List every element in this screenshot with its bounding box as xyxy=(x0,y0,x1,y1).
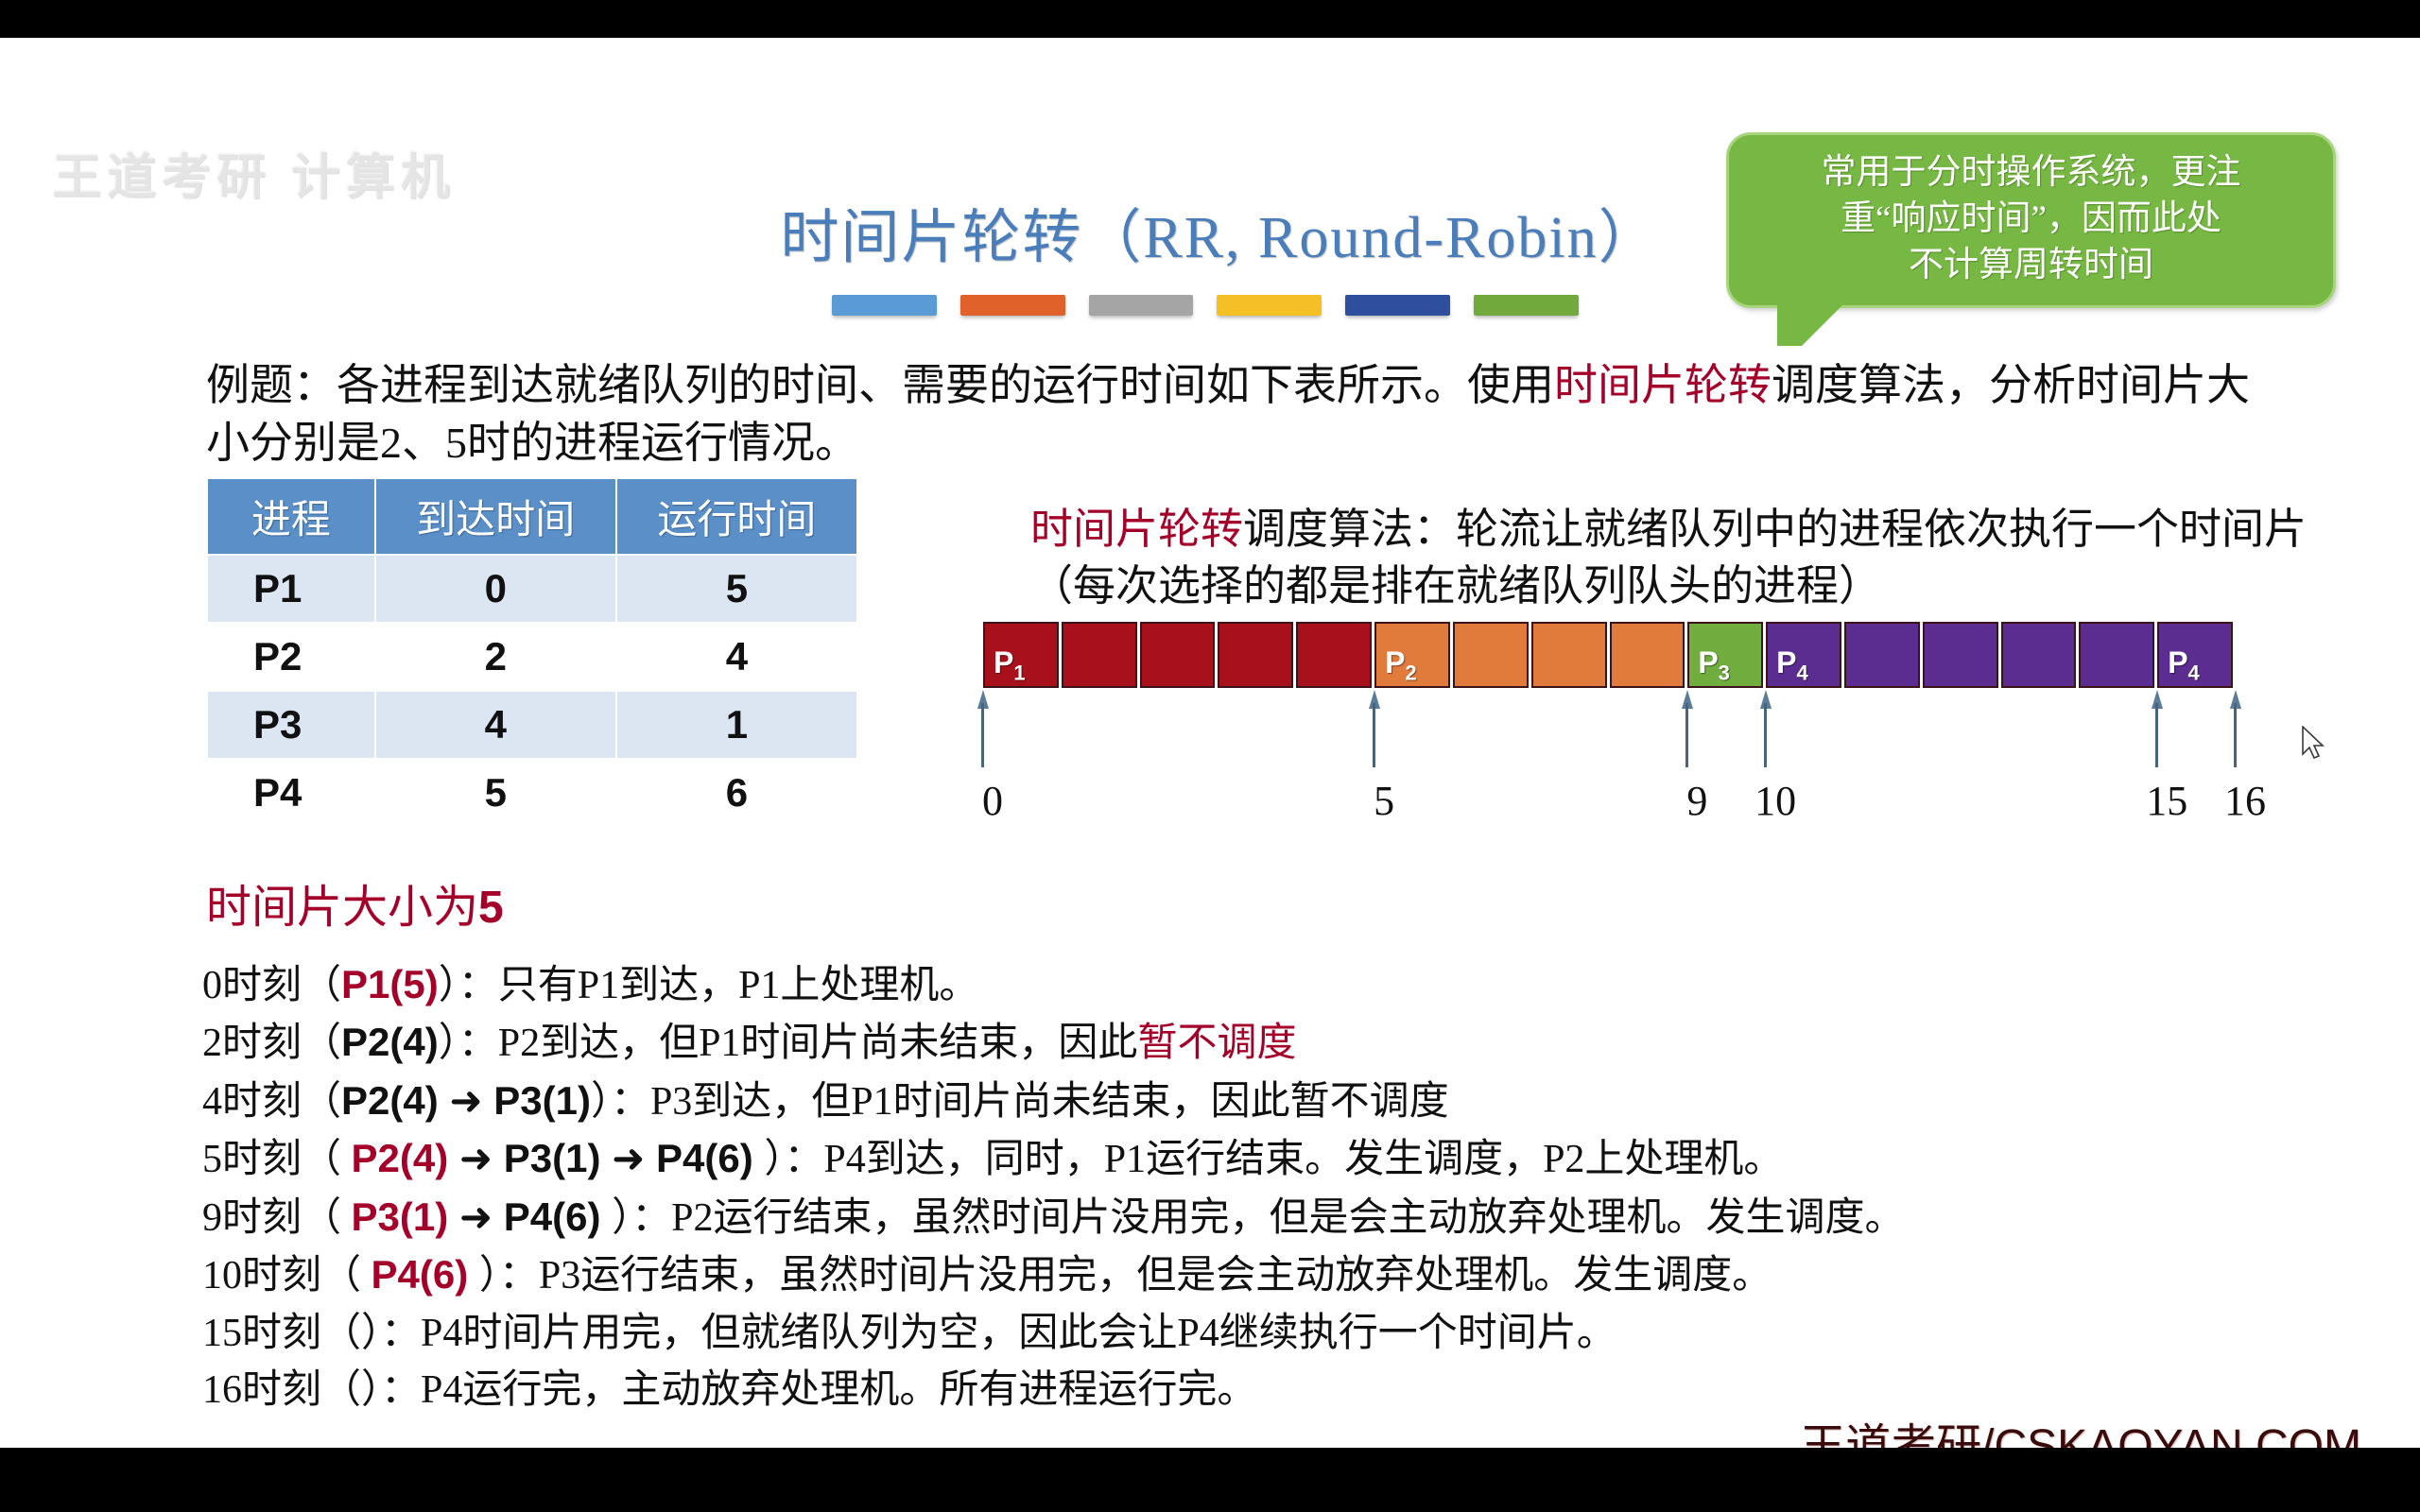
table-header-row: 进程 到达时间 运行时间 xyxy=(207,478,857,555)
step-queue: P2(4) xyxy=(341,1020,439,1064)
gantt-cell-p1-2 xyxy=(1140,622,1216,688)
step-time: 10时刻（ xyxy=(202,1254,372,1297)
table-cell: P3 xyxy=(207,691,375,759)
quantum-label: 时间片大小为 xyxy=(206,883,478,933)
problem-statement: 例题：各进程到达就绪队列的时间、需要的运行时间如下表所示。使用时间片轮转调度算法… xyxy=(206,357,2267,472)
step-queue: P1(5) xyxy=(341,962,439,1006)
page-title: 时间片轮转（RR, Round-Robin） xyxy=(718,189,1720,274)
table-header-cell: 运行时间 xyxy=(616,478,857,555)
step-line-3: 4时刻（P2(4) ➜ P3(1)）：P3到达，但P1时间片尚未结束，因此暂不调… xyxy=(202,1073,2339,1130)
table-header-cell: 进程 xyxy=(207,478,375,555)
gantt-cell-label: P1 xyxy=(985,647,1026,686)
table-cell: 5 xyxy=(375,759,616,827)
step-queue-rest: ➜ P4(6) xyxy=(448,1194,612,1239)
gantt-cell-p1-3 xyxy=(1218,622,1293,688)
table-cell: P1 xyxy=(207,555,375,623)
gantt-cell-p4-10: P4 xyxy=(1766,622,1841,688)
footer-brand: 王道考研/CSKAOYAN.COM xyxy=(1800,1408,2361,1448)
step-queue: P4(6) xyxy=(372,1252,469,1297)
step-text: ）：只有P1到达，P1上处理机。 xyxy=(439,964,979,1007)
step-text: ）：P4运行完，主动放弃处理机。所有进程运行完。 xyxy=(361,1368,1256,1412)
step-text: ）：P4时间片用完，但就绪队列为空，因此会让P4继续执行一个时间片。 xyxy=(361,1312,1616,1355)
watermark-text: 王道考研 计算机 xyxy=(52,137,455,208)
table-row: P3 4 1 xyxy=(207,691,857,759)
table-cell: 4 xyxy=(616,623,857,691)
title-rule-bar-3 xyxy=(1089,295,1194,316)
title-rule-bar-1 xyxy=(832,295,937,316)
tick-label: 16 xyxy=(2217,777,2273,825)
step-text: ）：P4到达，同时，P1运行结束。发生调度，P2上处理机。 xyxy=(764,1138,1783,1181)
gantt-cell-p1-0: P1 xyxy=(983,622,1059,688)
gantt-time-axis: 059101516 xyxy=(983,690,2236,832)
quantum-heading: 时间片大小为5 xyxy=(206,869,504,936)
gantt-cell-p1-4 xyxy=(1296,622,1372,688)
callout-line-3: 不计算周转时间 xyxy=(1740,243,2322,289)
problem-highlight: 时间片轮转 xyxy=(1554,361,1772,409)
mouse-cursor xyxy=(2301,726,2325,762)
step-time: 15时刻（ xyxy=(202,1312,361,1355)
table-cell: 6 xyxy=(616,759,857,827)
table-cell: 1 xyxy=(616,691,857,759)
tick-arrow-shaft xyxy=(2234,703,2237,767)
callout-line-1: 常用于分时操作系统，更注 xyxy=(1740,150,2322,197)
slide-canvas: 王道考研 计算机 时间片轮转（RR, Round-Robin） 常用于分时操作系… xyxy=(0,38,2420,1448)
step-queue: P2(4) ➜ P3(1) xyxy=(341,1078,591,1123)
gantt-cell-label: P4 xyxy=(1768,647,1808,686)
step-time: 0时刻（ xyxy=(202,964,341,1007)
gantt-cell-p4-13 xyxy=(2001,622,2077,688)
process-table: 进程 到达时间 运行时间 P1 0 5 P2 2 4 P3 4 1 P4 xyxy=(206,477,858,828)
tick-arrow-shaft xyxy=(1764,703,1767,767)
table-row: P4 5 6 xyxy=(207,759,857,827)
tick-label: 9 xyxy=(1668,777,1725,825)
callout-line-2: 重“响应时间”，因而此处 xyxy=(1740,197,2322,243)
callout-bubble: 常用于分时操作系统，更注 重“响应时间”，因而此处 不计算周转时间 xyxy=(1726,132,2336,308)
table-row: P2 2 4 xyxy=(207,623,857,691)
step-text: ）：P3运行结束，虽然时间片没用完，但是会主动放弃处理机。发生调度。 xyxy=(479,1254,1772,1297)
step-line-2: 2时刻（P2(4)）：P2到达，但P1时间片尚未结束，因此暂不调度 xyxy=(202,1014,2339,1072)
step-queue: P3(1) xyxy=(352,1194,449,1239)
algorithm-description: 时间片轮转调度算法：轮流让就绪队列中的进程依次执行一个时间片（每次选择的都是排在… xyxy=(1030,501,2354,615)
step-queue-rest xyxy=(468,1252,479,1297)
step-text: ）：P3到达，但P1时间片尚未结束，因此暂不调度 xyxy=(591,1080,1449,1124)
step-emphasis: 暂不调度 xyxy=(1137,1022,1296,1065)
step-line-1: 0时刻（P1(5)）：只有P1到达，P1上处理机。 xyxy=(202,956,2339,1014)
table-header-cell: 到达时间 xyxy=(375,478,616,555)
tick-arrow-shaft xyxy=(981,703,984,767)
tick-arrow-shaft xyxy=(2155,703,2158,767)
gantt-cell-p2-8 xyxy=(1610,622,1685,688)
tick-label: 15 xyxy=(2138,777,2195,825)
gantt-cell-label: P3 xyxy=(1689,647,1730,686)
step-line-6: 10时刻（ P4(6) ）：P3运行结束，虽然时间片没用完，但是会主动放弃处理机… xyxy=(202,1246,2339,1304)
gantt-cell-label: P4 xyxy=(2159,647,2200,686)
tick-label: 5 xyxy=(1356,777,1412,825)
gantt-cell-label: P2 xyxy=(1376,647,1417,686)
algorithm-highlight: 时间片轮转 xyxy=(1030,506,1243,553)
title-rule-bar-6 xyxy=(1474,295,1579,316)
step-queue: P2(4) xyxy=(352,1136,449,1180)
top-letterbox-bar xyxy=(0,0,2420,38)
title-rule-bar-4 xyxy=(1217,295,1322,316)
step-line-7: 15时刻（）：P4时间片用完，但就绪队列为空，因此会让P4继续执行一个时间片。 xyxy=(202,1305,2339,1362)
gantt-cell-p4-14 xyxy=(2079,622,2154,688)
tick-arrow-shaft xyxy=(1685,703,1688,767)
title-rule-bar-2 xyxy=(960,295,1065,316)
step-time: 2时刻（ xyxy=(202,1022,341,1065)
table-cell: P4 xyxy=(207,759,375,827)
title-underline-bars xyxy=(832,295,1579,316)
steps-list: 0时刻（P1(5)）：只有P1到达，P1上处理机。2时刻（P2(4)）：P2到达… xyxy=(202,956,2339,1419)
tick-arrow-shaft xyxy=(1373,703,1375,767)
title-rule-bar-5 xyxy=(1345,295,1450,316)
step-text: ）：P2运行结束，虽然时间片没用完，但是会主动放弃处理机。发生调度。 xyxy=(612,1196,1904,1240)
table-cell: 0 xyxy=(375,555,616,623)
gantt-cell-p2-5: P2 xyxy=(1374,622,1450,688)
table-cell: 4 xyxy=(375,691,616,759)
step-time: 5时刻（ xyxy=(202,1138,352,1181)
gantt-chart: P1P2P3P4P4 xyxy=(983,622,2236,688)
gantt-cell-p2-7 xyxy=(1531,622,1607,688)
step-line-5: 9时刻（ P3(1) ➜ P4(6) ）：P2运行结束，虽然时间片没用完，但是会… xyxy=(202,1189,2339,1246)
table-cell: 5 xyxy=(616,555,857,623)
step-time: 9时刻（ xyxy=(202,1196,352,1240)
bottom-letterbox-bar xyxy=(0,1448,2420,1512)
tick-label: 10 xyxy=(1747,777,1804,825)
problem-part-1: 例题：各进程到达就绪队列的时间、需要的运行时间如下表所示。使用 xyxy=(206,361,1554,409)
gantt-cell-p4-15: P4 xyxy=(2157,622,2233,688)
gantt-cell-p4-12 xyxy=(1923,622,1998,688)
table-cell: 2 xyxy=(375,623,616,691)
step-queue-rest: ➜ P3(1) ➜ P4(6) xyxy=(448,1136,764,1180)
tick-label: 0 xyxy=(964,777,1021,825)
step-line-4: 5时刻（ P2(4) ➜ P3(1) ➜ P4(6) ）：P4到达，同时，P1运… xyxy=(202,1130,2339,1188)
gantt-cell-p4-11 xyxy=(1844,622,1920,688)
gantt-cell-p2-6 xyxy=(1453,622,1529,688)
step-time: 16时刻（ xyxy=(202,1368,361,1412)
step-text: ）：P2到达，但P1时间片尚未结束，因此 xyxy=(439,1022,1138,1065)
quantum-value: 5 xyxy=(478,883,504,933)
gantt-cell-p3-9: P3 xyxy=(1687,622,1763,688)
callout-tail xyxy=(1777,295,1853,346)
table-cell: P2 xyxy=(207,623,375,691)
table-row: P1 0 5 xyxy=(207,555,857,623)
step-time: 4时刻（ xyxy=(202,1080,341,1124)
gantt-cell-p1-1 xyxy=(1062,622,1137,688)
